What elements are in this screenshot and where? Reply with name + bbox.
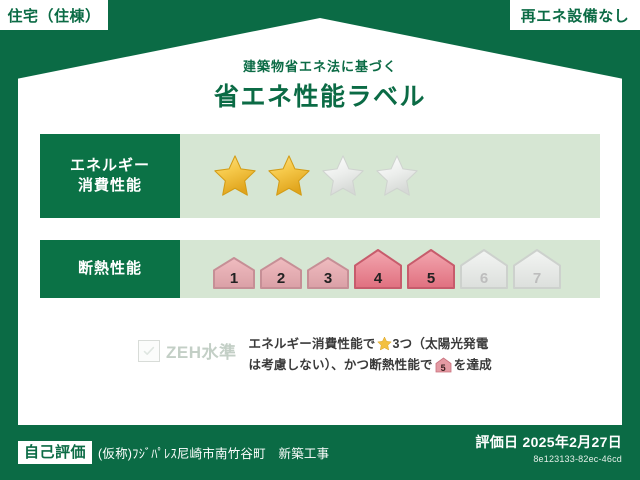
house-icon [406,248,456,290]
star-icon-empty [320,153,366,199]
house-icon [353,248,403,290]
self-evaluation-badge: 自己評価 [18,441,92,464]
star-icon-filled [212,153,258,199]
house-icon [459,248,509,290]
energy-consumption-row: エネルギー 消費性能 [40,134,600,218]
evaluation-id: 8e123133-82ec-46cd [475,453,622,465]
zeh-check-icon [138,340,160,362]
insulation-grade-item: 2 [259,256,303,290]
zeh-description-line2-text: は考慮しない）、かつ断熱性能で [249,358,433,372]
label-subtitle: 建築物省エネ法に基づく [0,58,640,76]
insulation-grade-item: 6 [459,248,509,290]
zeh-description-line1-text: エネルギー消費性能で [249,337,376,351]
insulation-grade-item: 5 [406,248,456,290]
renewable-equipment-tag-label: 再エネ設備なし [521,5,630,26]
insulation-performance-label-line1: 断熱性能 [78,259,142,279]
housing-type-tag: 住宅（住棟） [0,0,108,30]
zeh-description-line1: エネルギー消費性能で3つ（太陽光発電 [249,334,492,355]
insulation-grade-item: 7 [512,248,562,290]
house-icon [259,256,303,290]
evaluation-date: 評価日 2025年2月27日 [475,433,622,451]
label-title-block: 建築物省エネ法に基づく 省エネ性能ラベル [0,58,640,114]
house-icon [512,248,562,290]
star-icon-filled [266,153,312,199]
renewable-equipment-tag: 再エネ設備なし [510,0,640,30]
insulation-grade-item: 4 [353,248,403,290]
star-rating [180,134,600,218]
star-icon-empty [374,153,420,199]
building-name: (仮称)ﾌｼﾞﾊﾟﾚｽ尼崎市南竹谷町 新築工事 [98,443,329,462]
house-icon: 5 [435,357,452,373]
house-icon-value: 5 [435,363,452,373]
footer-right-group: 評価日 2025年2月27日 8e123133-82ec-46cd [475,433,622,465]
footer-left-group: 自己評価 (仮称)ﾌｼﾞﾊﾟﾚｽ尼崎市南竹谷町 新築工事 [18,441,329,464]
energy-consumption-label-line2: 消費性能 [78,176,142,196]
zeh-description-line1-tail: 3つ（太陽光発電 [393,337,489,351]
energy-consumption-label: エネルギー 消費性能 [40,134,180,218]
zeh-description: エネルギー消費性能で3つ（太陽光発電 は考慮しない）、かつ断熱性能で5を達成 [249,334,492,376]
zeh-description-line2-tail: を達成 [454,358,492,372]
zeh-standard-label: ZEH水準 [166,338,237,363]
insulation-performance-row: 断熱性能 1234567 [40,240,600,298]
insulation-grade-scale: 1234567 [180,240,600,298]
zeh-description-line2: は考慮しない）、かつ断熱性能で5を達成 [249,355,492,376]
insulation-grade-item: 1 [212,256,256,290]
housing-type-tag-label: 住宅（住棟） [7,5,100,26]
zeh-standard-block: ZEH水準 エネルギー消費性能で3つ（太陽光発電 は考慮しない）、かつ断熱性能で… [138,334,558,376]
zeh-badge: ZEH水準 [138,338,237,363]
insulation-performance-label: 断熱性能 [40,240,180,298]
energy-consumption-label-line1: エネルギー [70,156,150,176]
house-icon [306,256,350,290]
house-grade-row: 1234567 [212,248,565,290]
house-icon [212,256,256,290]
insulation-grade-item: 3 [306,256,350,290]
star-icon [377,336,392,351]
label-footer: 自己評価 (仮称)ﾌｼﾞﾊﾟﾚｽ尼崎市南竹谷町 新築工事 評価日 2025年2月… [0,425,640,480]
label-title: 省エネ性能ラベル [0,80,640,114]
energy-performance-label: 住宅（住棟） 再エネ設備なし 建築物省エネ法に基づく 省エネ性能ラベル エネルギ… [0,0,640,480]
